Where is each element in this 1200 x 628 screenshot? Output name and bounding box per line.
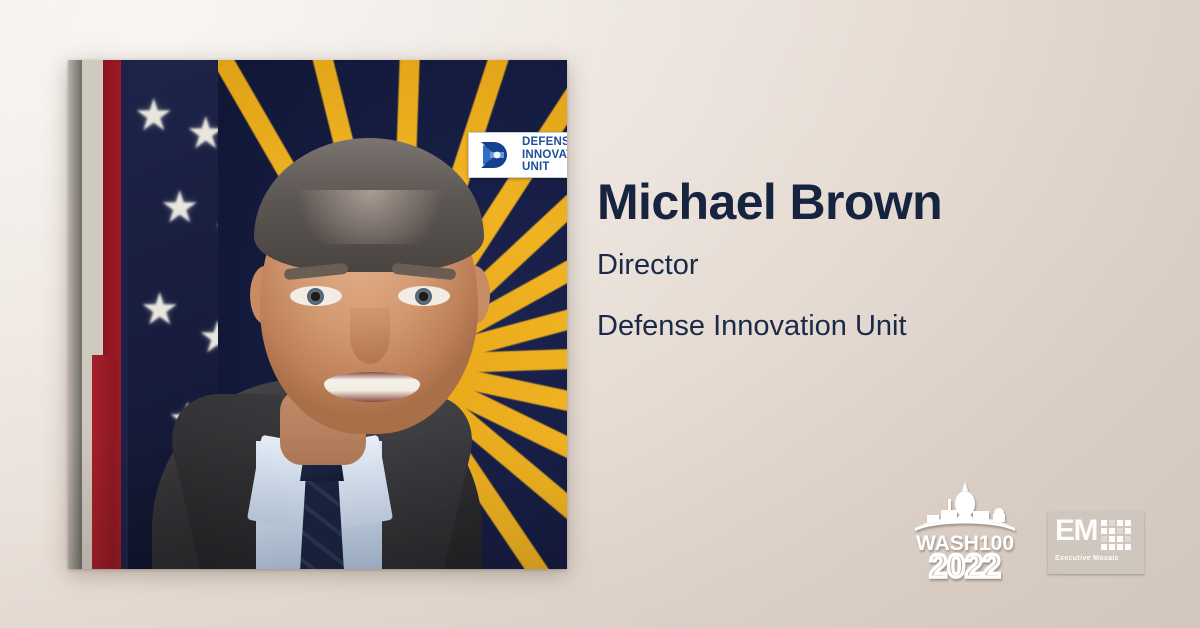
executive-mosaic-logo: EM Executive Mosaic <box>1048 512 1144 574</box>
diu-wordmark-line2: INNOVATION UNIT <box>522 149 567 174</box>
wash100-year: 2022 <box>929 548 1000 582</box>
person-title: Director <box>597 250 1157 282</box>
wash100-2022-badge: WASH100 2022 <box>905 474 1025 582</box>
diu-wordmark-line1: DEFENSE <box>522 136 567 149</box>
person-name: Michael Brown <box>597 176 1157 229</box>
diu-wordmark: DEFENSE INNOVATION UNIT <box>522 136 567 174</box>
diu-logo-badge: DEFENSE INNOVATION UNIT <box>468 132 567 178</box>
diu-chevron-mark-icon <box>477 139 515 171</box>
person-info-block: Michael Brown Director Defense Innovatio… <box>597 176 1157 343</box>
mosaic-grid-icon <box>1101 520 1131 550</box>
capitol-skyline-icon <box>915 482 1015 531</box>
person-organization: Defense Innovation Unit <box>597 311 1157 343</box>
portrait-frame: ★ ★ ★ ★ ★ ★ ★ ★ <box>68 60 567 569</box>
em-logo-row: EM <box>1055 518 1137 550</box>
em-caption: Executive Mosaic <box>1055 553 1137 562</box>
em-monogram: EM <box>1055 518 1097 544</box>
